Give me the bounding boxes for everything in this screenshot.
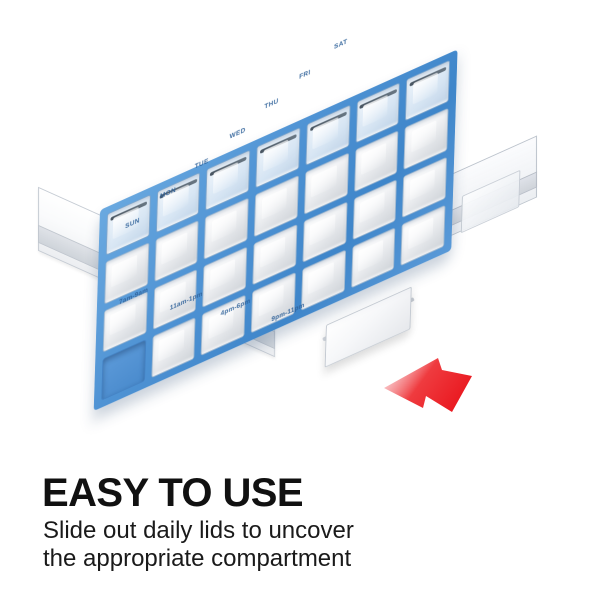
product-illustration: SUN MON TUE WED THU FRI SAT 7am-9am 11am… — [0, 0, 600, 450]
day-label-wed: WED — [229, 127, 245, 141]
headline: EASY TO USE — [42, 473, 303, 513]
day-label-sat: SAT — [334, 38, 348, 51]
day-label-thu: THU — [264, 98, 278, 111]
slide-direction-arrow — [382, 352, 474, 414]
pill-organizer-3d: SUN MON TUE WED THU FRI SAT 7am-9am 11am… — [60, 92, 530, 392]
subtitle-line-2: the appropriate compartment — [43, 545, 351, 573]
caption-block: EASY TO USE Slide out daily lids to unco… — [0, 455, 600, 600]
compartment-grid — [101, 60, 450, 401]
product-feature-panel: SUN MON TUE WED THU FRI SAT 7am-9am 11am… — [0, 0, 600, 600]
day-label-fri: FRI — [299, 69, 311, 81]
subtitle-line-1: Slide out daily lids to uncover — [43, 517, 354, 545]
